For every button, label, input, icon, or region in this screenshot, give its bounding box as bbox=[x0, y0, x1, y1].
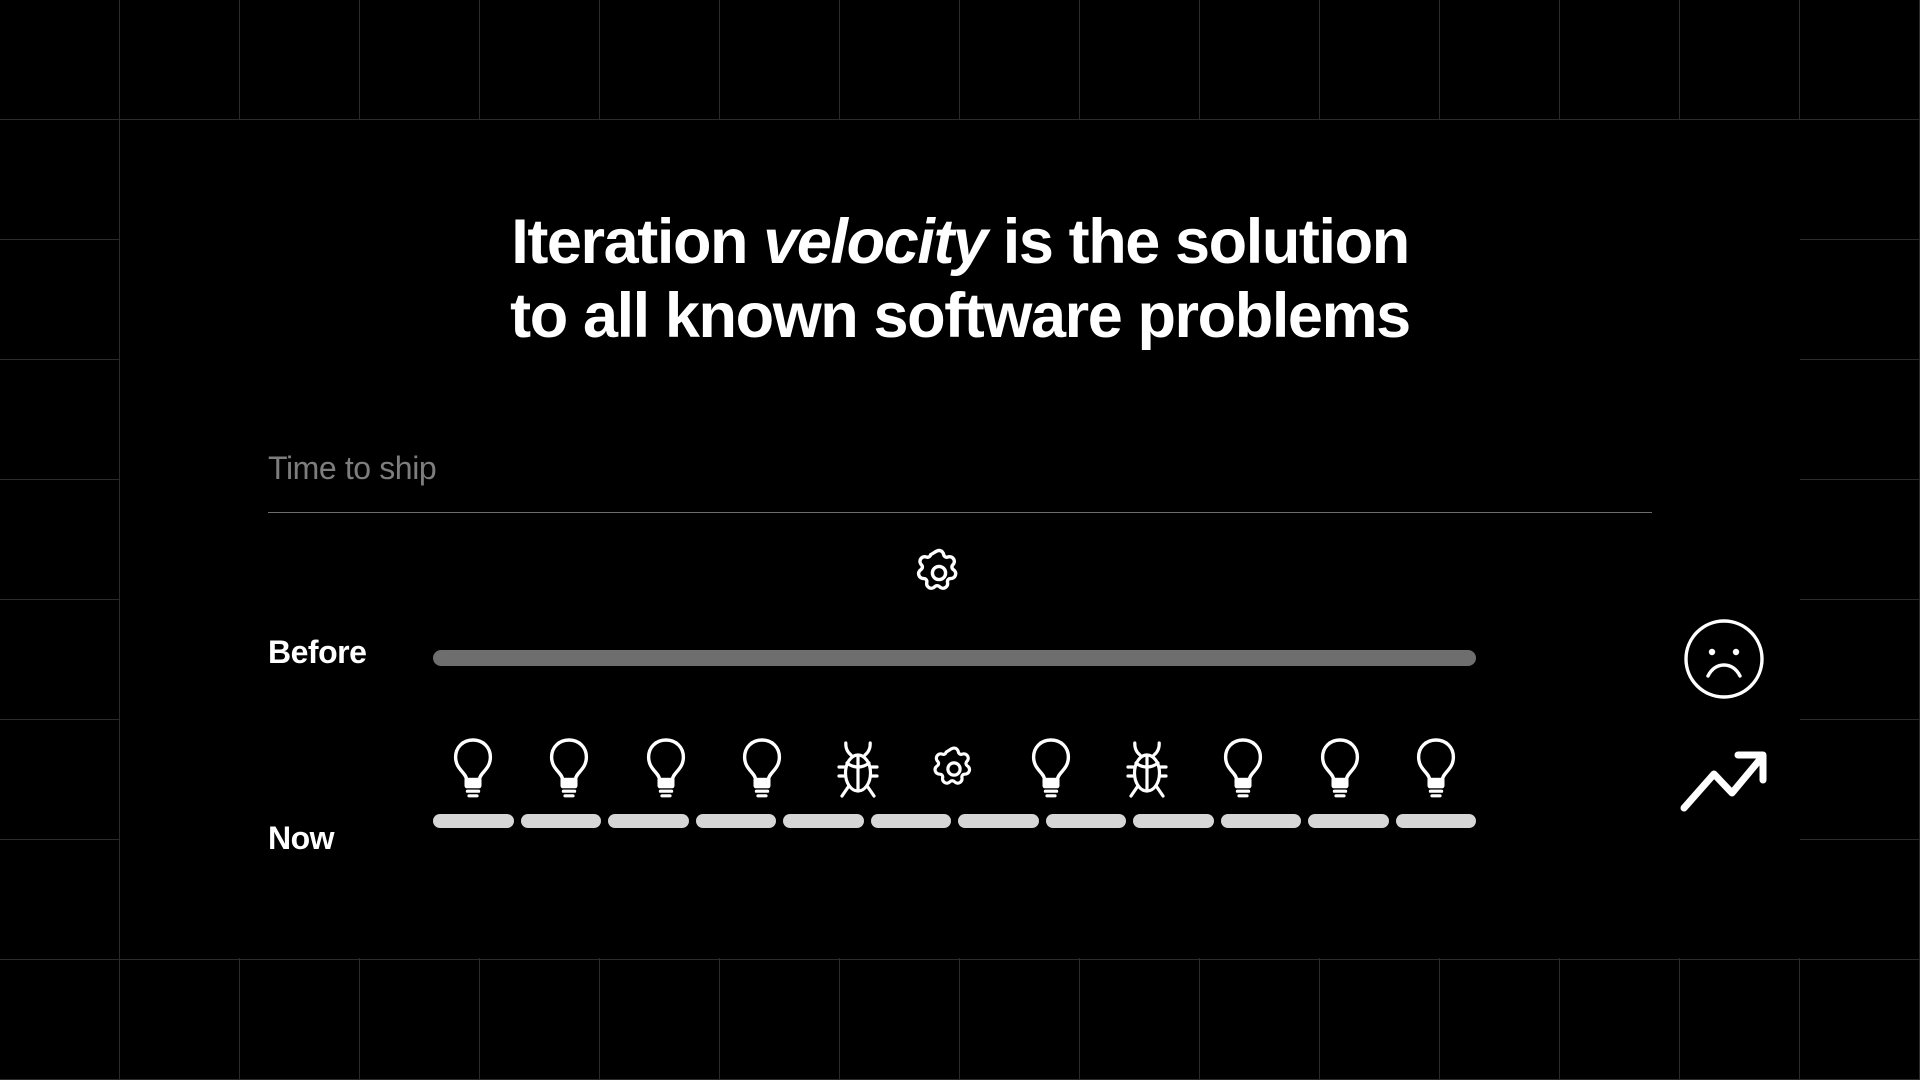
now-segment bbox=[433, 814, 514, 828]
now-segment bbox=[696, 814, 777, 828]
row-now-label: Now bbox=[268, 822, 334, 854]
sad-face-icon bbox=[1683, 618, 1765, 700]
now-segment bbox=[871, 814, 952, 828]
row-now: Now bbox=[268, 730, 1668, 860]
headline-line-2: to all known software problems bbox=[120, 279, 1800, 353]
now-segment bbox=[608, 814, 689, 828]
lightbulb-icon bbox=[543, 736, 595, 802]
headline-text-after-emphasis: is the solution bbox=[987, 207, 1409, 277]
section-divider bbox=[268, 512, 1652, 513]
section-header: Time to ship bbox=[268, 452, 1652, 513]
now-segment-bar bbox=[433, 814, 1476, 828]
gear-icon bbox=[928, 736, 980, 802]
lightbulb-icon bbox=[1410, 736, 1462, 802]
before-progress-bar bbox=[433, 650, 1476, 666]
now-segment bbox=[1046, 814, 1127, 828]
now-segment bbox=[1221, 814, 1302, 828]
headline-text-before-emphasis: Iteration bbox=[511, 207, 763, 277]
bug-icon bbox=[1121, 736, 1173, 802]
now-segment bbox=[783, 814, 864, 828]
now-segment bbox=[1133, 814, 1214, 828]
headline-line-1: Iteration velocity is the solution bbox=[120, 205, 1800, 279]
lightbulb-icon bbox=[1217, 736, 1269, 802]
now-segment bbox=[1308, 814, 1389, 828]
now-segment bbox=[1396, 814, 1477, 828]
gear-icon bbox=[911, 545, 967, 601]
lightbulb-icon bbox=[447, 736, 499, 802]
lightbulb-icon bbox=[736, 736, 788, 802]
lightbulb-icon bbox=[1314, 736, 1366, 802]
row-before-label: Before bbox=[268, 636, 366, 668]
trending-up-icon bbox=[1678, 744, 1770, 816]
lightbulb-icon bbox=[640, 736, 692, 802]
row-before-track-area bbox=[433, 590, 1476, 700]
lightbulb-icon bbox=[1025, 736, 1077, 802]
now-icon-strip bbox=[447, 730, 1462, 802]
now-segment bbox=[521, 814, 602, 828]
row-before: Before bbox=[268, 590, 1668, 700]
bug-icon bbox=[832, 736, 884, 802]
now-segment bbox=[958, 814, 1039, 828]
page-title: Iteration velocity is the solution to al… bbox=[120, 205, 1800, 354]
section-label: Time to ship bbox=[268, 452, 1652, 484]
headline-emphasis-velocity: velocity bbox=[763, 207, 986, 277]
row-now-track-area bbox=[433, 730, 1476, 860]
slide-canvas: Iteration velocity is the solution to al… bbox=[0, 0, 1920, 1080]
